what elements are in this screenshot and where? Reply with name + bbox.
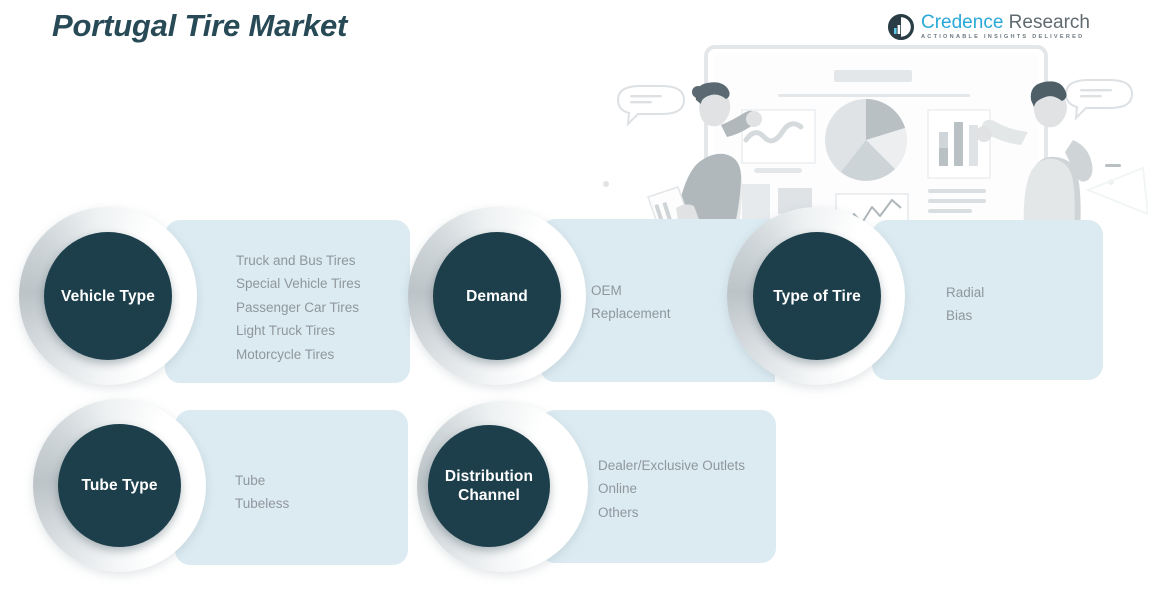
segment-item: Dealer/Exclusive Outlets — [598, 454, 745, 477]
segment-bubble-demand[interactable]: Demand — [433, 232, 561, 360]
logo-tagline: Actionable Insights Delivered — [921, 35, 1090, 41]
logo-name-primary: Credence — [921, 12, 1003, 33]
segment-items-type-of-tire: Radial Bias — [946, 281, 984, 328]
segment-item: Special Vehicle Tires — [236, 272, 361, 295]
segment-bubble-distribution-channel[interactable]: Distribution Channel — [428, 425, 550, 547]
segment-items-vehicle-type: Truck and Bus Tires Special Vehicle Tire… — [236, 249, 361, 366]
segment-bubble-label: Type of Tire — [767, 287, 867, 306]
page-title: Portugal Tire Market — [52, 8, 347, 44]
segment-panel-type-of-tire — [872, 220, 1103, 380]
segment-panel-tube-type — [175, 410, 408, 565]
segment-item: OEM — [591, 279, 671, 302]
segment-bubble-label: Demand — [460, 287, 534, 306]
segment-bubble-tube-type[interactable]: Tube Type — [58, 424, 181, 547]
segment-item: Others — [598, 501, 745, 524]
segment-items-distribution-channel: Dealer/Exclusive Outlets Online Others — [598, 454, 745, 524]
infographic-canvas: Portugal Tire Market Credence Research A… — [0, 0, 1172, 613]
segment-item: Radial — [946, 281, 984, 304]
segment-item: Online — [598, 477, 745, 500]
segment-bubble-label: Vehicle Type — [55, 287, 161, 306]
segment-item: Passenger Car Tires — [236, 296, 361, 319]
segment-item: Tube — [235, 469, 289, 492]
segment-item: Replacement — [591, 302, 671, 325]
segment-item: Tubeless — [235, 492, 289, 515]
segment-item: Truck and Bus Tires — [236, 249, 361, 272]
bar-chart-circle-icon — [888, 14, 914, 40]
business-presentation-illustration — [588, 22, 1148, 252]
segment-bubble-label-line1: Distribution — [445, 468, 533, 485]
segment-bubble-vehicle-type[interactable]: Vehicle Type — [44, 232, 172, 360]
segment-item: Light Truck Tires — [236, 319, 361, 342]
segment-bubble-label-line2: Channel — [458, 487, 520, 504]
segment-bubble-type-of-tire[interactable]: Type of Tire — [753, 232, 881, 360]
segment-bubble-label: Tube Type — [75, 476, 163, 495]
segment-items-demand: OEM Replacement — [591, 279, 671, 326]
segment-bubble-label: Distribution Channel — [439, 467, 539, 505]
credence-research-logo: Credence Research Actionable Insights De… — [888, 13, 1090, 41]
logo-name-secondary: Research — [1009, 12, 1090, 33]
segment-item: Motorcycle Tires — [236, 343, 361, 366]
segment-item: Bias — [946, 304, 984, 327]
segment-items-tube-type: Tube Tubeless — [235, 469, 289, 516]
